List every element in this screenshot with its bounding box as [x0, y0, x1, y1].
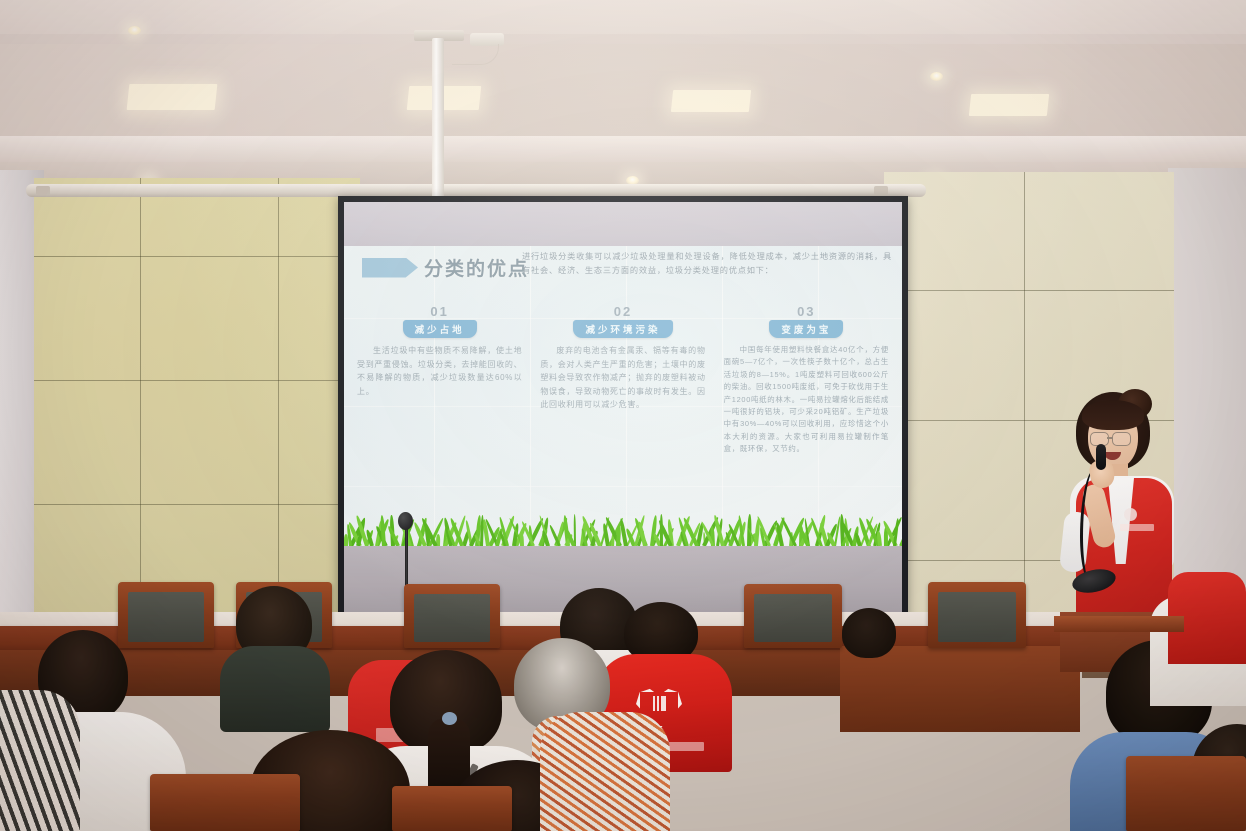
handheld-microphone-icon	[1096, 444, 1106, 470]
ceiling-soffit	[0, 136, 1246, 163]
chair	[1126, 756, 1246, 831]
wood-ledge	[1054, 616, 1184, 632]
roller-bracket-right	[874, 186, 888, 195]
presenter-fringe	[1082, 400, 1144, 430]
chevron-right-icon	[362, 258, 418, 278]
vest-logo-text	[1120, 524, 1154, 531]
chair	[392, 786, 512, 831]
slide-column-3: 03 变废为宝 中国每年使用塑料快餐盒达40亿个，方便面碗5—7亿个，一次性筷子…	[717, 304, 896, 456]
column-body: 废弃的电池含有金属汞、镉等有毒的物质，会对人类产生严重的危害；土壤中的废塑料会导…	[540, 344, 705, 412]
glasses-icon	[1112, 432, 1131, 446]
slide-column-1: 01 减少占地 生活垃圾中有些物质不易降解，使土地受到严重侵蚀。垃圾分类，去掉能…	[350, 304, 529, 456]
column-number: 03	[724, 304, 889, 319]
chair	[150, 774, 300, 831]
audience-torso	[220, 646, 330, 732]
projector-mount-pole	[432, 38, 444, 206]
wall-panels-left	[34, 178, 360, 630]
grass-decoration-icon	[344, 512, 902, 546]
ceiling-spotlight-2	[930, 72, 943, 81]
ceiling-spotlight-1	[128, 26, 141, 35]
ceiling-panel-light-2	[407, 86, 482, 110]
ceiling-band-upper	[0, 0, 1246, 34]
slide-title: 分类的优点	[424, 254, 529, 281]
ceiling-panel-light-1	[127, 84, 218, 110]
podium-microphone-icon	[398, 512, 413, 530]
glasses-bridge	[1107, 437, 1112, 439]
vest-logo-icon	[1124, 508, 1137, 521]
ceiling-panel-light-4	[969, 94, 1049, 116]
audience-torso	[0, 690, 80, 831]
slide-title-block: 分类的优点	[362, 254, 529, 281]
slide-column-2: 02 减少环境污染 废弃的电池含有金属汞、镉等有毒的物质，会对人类产生严重的危害…	[533, 304, 712, 456]
column-number: 02	[540, 304, 705, 319]
column-body: 中国每年使用塑料快餐盒达40亿个，方便面碗5—7亿个，一次性筷子数十亿个，总占生…	[724, 344, 889, 456]
chair-cushion	[938, 592, 1016, 642]
audience-torso	[540, 712, 670, 831]
slide-columns: 01 减少占地 生活垃圾中有些物质不易降解，使土地受到严重侵蚀。垃圾分类，去掉能…	[350, 304, 896, 456]
hair-tie	[442, 712, 457, 725]
projection-screen: 分类的优点 进行垃圾分类收集可以减少垃圾处理量和处理设备，降低处理成本，减少土地…	[338, 196, 908, 620]
chair-cushion	[414, 594, 490, 642]
slide-intro-paragraph: 进行垃圾分类收集可以减少垃圾处理量和处理设备，降低处理成本，减少土地资源的消耗，…	[522, 250, 892, 278]
chair-cushion	[754, 594, 832, 642]
chair-cushion	[128, 592, 204, 642]
wood-panel-right	[840, 646, 1080, 732]
column-heading: 减少占地	[403, 320, 477, 338]
ceiling-panel-light-3	[671, 90, 751, 112]
ceiling	[0, 0, 1246, 186]
column-number: 01	[357, 304, 522, 319]
screen-top-margin	[344, 202, 902, 246]
column-body: 生活垃圾中有些物质不易降解，使土地受到严重侵蚀。垃圾分类，去掉能回收的、不易降解…	[357, 344, 522, 398]
column-heading: 减少环境污染	[573, 320, 672, 338]
slide-content: 分类的优点 进行垃圾分类收集可以减少垃圾处理量和处理设备，降低处理成本，减少土地…	[344, 246, 902, 546]
column-heading: 变废为宝	[769, 320, 843, 338]
lecture-hall-photo: 分类的优点 进行垃圾分类收集可以减少垃圾处理量和处理设备，降低处理成本，减少土地…	[0, 0, 1246, 831]
screen-surface: 分类的优点 进行垃圾分类收集可以减少垃圾处理量和处理设备，降低处理成本，减少土地…	[344, 202, 902, 612]
roller-bracket-left	[36, 186, 50, 195]
audience-head	[842, 608, 896, 658]
